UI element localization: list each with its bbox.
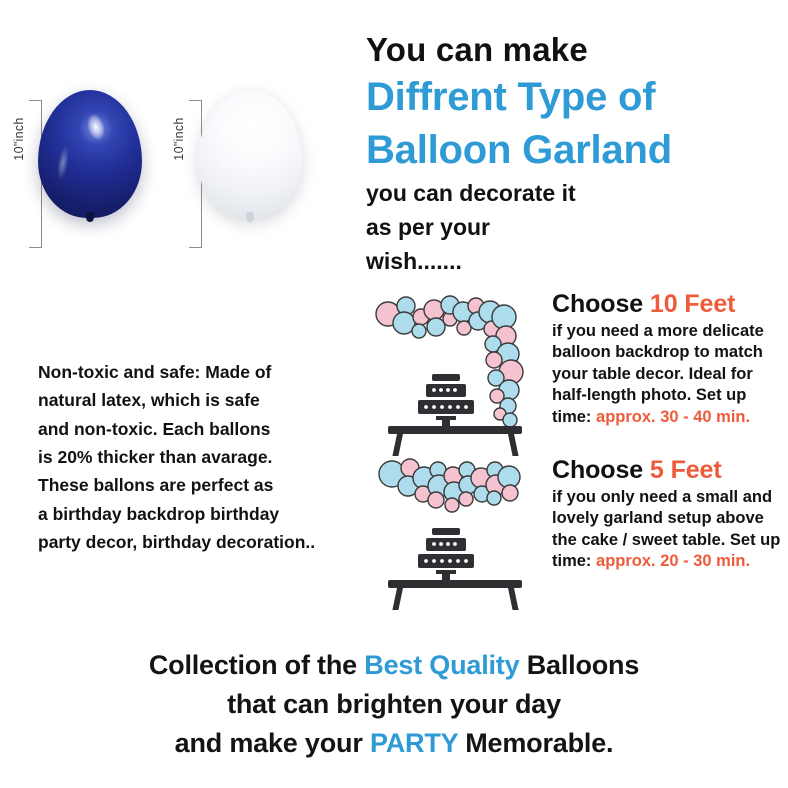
ten-feet-setup-time: approx. 30 - 40 min. xyxy=(596,408,750,426)
headline-block: You can make Diffrent Type of Balloon Ga… xyxy=(366,32,784,277)
balloon-body xyxy=(198,90,302,218)
balloon-knot xyxy=(86,212,94,222)
infographic-canvas: 10"inch 10"inch You ca xyxy=(0,0,788,788)
headline-line-1: You can make xyxy=(366,32,784,69)
specimen-navy-blue-balloon: 10"inch xyxy=(8,78,168,268)
ten-feet-copy: Choose 10 Feet if you need a more delica… xyxy=(552,290,784,428)
ten-feet-body: if you need a more delicate balloon back… xyxy=(552,321,784,428)
product-note-line: is 20% thicker than avarage. xyxy=(38,443,368,471)
headline-sub-3: wish....... xyxy=(366,246,784,277)
bracket-tick-bottom xyxy=(29,247,42,248)
size-label-navy: 10"inch xyxy=(12,96,26,182)
bracket-tick-bottom xyxy=(189,247,202,248)
ten-feet-title: Choose 10 Feet xyxy=(552,290,784,318)
white-balloon-icon xyxy=(198,90,302,218)
five-feet-copy: Choose 5 Feet if you only need a small a… xyxy=(552,456,784,573)
banner-line-3-prefix: and make your xyxy=(175,728,370,758)
option-ten-feet: Choose 10 Feet if you need a more delica… xyxy=(366,286,784,456)
product-note-line: Non-toxic and safe: Made of xyxy=(38,358,368,386)
product-note-line: natural latex, which is safe xyxy=(38,386,368,414)
ten-feet-title-accent: 10 Feet xyxy=(650,290,735,318)
product-note-line: and non-toxic. Each ballons xyxy=(38,415,368,443)
five-feet-title-accent: 5 Feet xyxy=(650,456,722,484)
l-shaped-garland-table-icon xyxy=(366,286,546,456)
balloon-body xyxy=(38,90,142,218)
banner-line-1-accent: Best Quality xyxy=(364,650,519,680)
banner-line-3-accent: PARTY xyxy=(370,728,458,758)
banner-line-1-suffix: Balloons xyxy=(519,650,639,680)
balloon-knot xyxy=(246,212,254,222)
navy-blue-balloon-icon xyxy=(38,90,142,218)
balloon-specimen-group: 10"inch 10"inch xyxy=(0,78,345,268)
ten-feet-title-prefix: Choose xyxy=(552,290,650,318)
option-five-feet: Choose 5 Feet if you only need a small a… xyxy=(366,452,784,612)
product-note-paragraph: Non-toxic and safe: Made of natural late… xyxy=(38,358,368,556)
product-note-line: a birthday backdrop birthday xyxy=(38,500,368,528)
size-label-white: 10"inch xyxy=(172,96,186,182)
headline-line-3: Balloon Garland xyxy=(366,126,784,175)
product-note-line: party decor, birthday decoration.. xyxy=(38,528,368,556)
product-note-line: These ballons are perfect as xyxy=(38,471,368,499)
five-feet-body: if you only need a small and lovely garl… xyxy=(552,487,784,573)
horizontal-garland-table-icon xyxy=(366,452,546,610)
banner-line-1-prefix: Collection of the xyxy=(149,650,364,680)
bottom-banner: Collection of the Best Quality Balloons … xyxy=(0,646,788,763)
banner-line-2: that can brighten your day xyxy=(0,685,788,724)
five-feet-setup-time: approx. 20 - 30 min. xyxy=(596,552,750,570)
five-feet-title-prefix: Choose xyxy=(552,456,650,484)
banner-line-3: and make your PARTY Memorable. xyxy=(0,724,788,763)
five-feet-illustration xyxy=(366,452,546,610)
headline-line-2: Diffrent Type of xyxy=(366,73,784,122)
headline-sub-1: you can decorate it xyxy=(366,178,784,209)
five-feet-title: Choose 5 Feet xyxy=(552,456,784,484)
headline-sub-2: as per your xyxy=(366,212,784,243)
ten-feet-illustration xyxy=(366,286,546,456)
banner-line-1: Collection of the Best Quality Balloons xyxy=(0,646,788,685)
specimen-white-balloon: 10"inch xyxy=(168,78,328,268)
banner-line-3-suffix: Memorable. xyxy=(458,728,613,758)
